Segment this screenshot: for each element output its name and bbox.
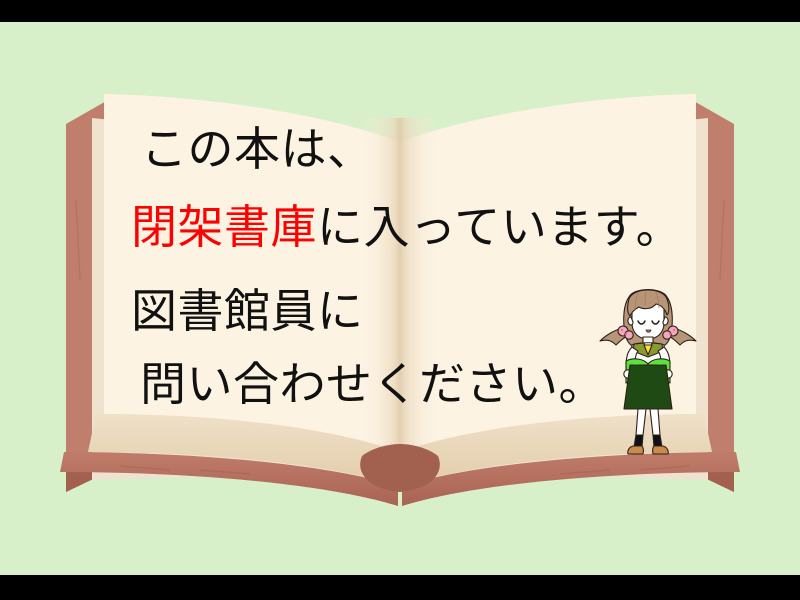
sock-left [634,435,643,447]
letterbox-top [0,0,800,22]
leg-left [636,409,646,435]
leg-right [650,409,660,435]
skirt [624,365,672,409]
shoe-left [628,446,644,454]
sock-right [653,435,662,447]
illustration-canvas: この本は、 閉架書庫に入っています。 図書館員に 問い合わせください。 [0,0,800,600]
letterbox-bottom [0,575,800,600]
shoe-right [653,446,669,454]
book-gutter-shadow [362,118,438,458]
girl-reading-illustration [596,279,700,459]
mouth [646,330,651,332]
book-page-left [104,94,400,452]
